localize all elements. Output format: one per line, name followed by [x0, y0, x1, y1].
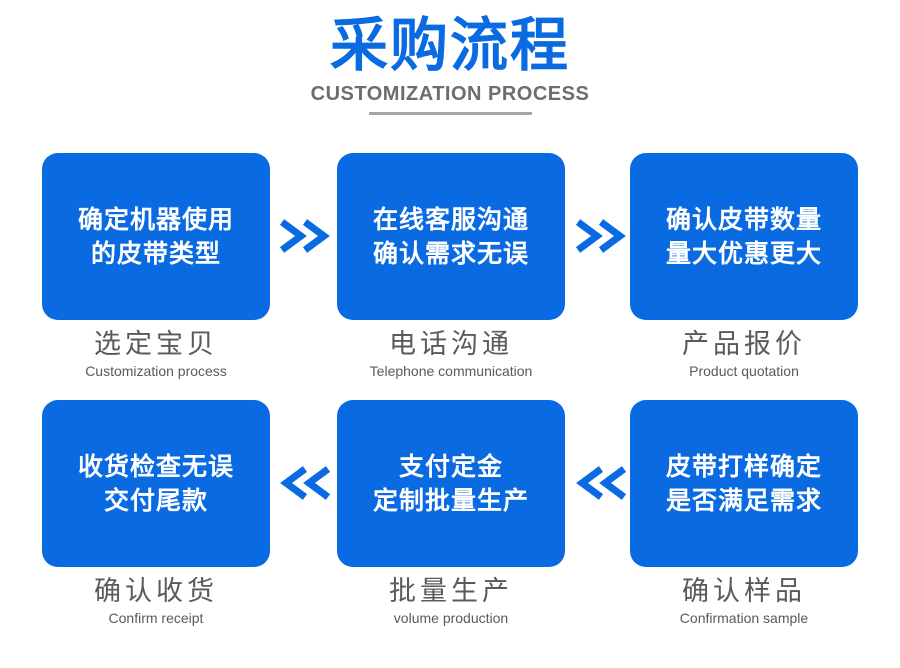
step-5-box-line-1: 支付定金 [399, 450, 503, 484]
step-6-box-line-2: 是否满足需求 [666, 484, 822, 518]
step-4-box-line-2: 交付尾款 [104, 484, 208, 518]
chevron-double-left-icon [573, 462, 629, 504]
step-5-box-line-2: 定制批量生产 [373, 484, 529, 518]
step-3-caption-cn: 产品报价 [630, 328, 858, 361]
chevron-double-right-icon [277, 215, 333, 257]
step-1-box[interactable]: 确定机器使用 的皮带类型 [42, 153, 270, 320]
process-step-2[interactable]: 在线客服沟通 确认需求无误 电话沟通 Telephone communicati… [337, 153, 565, 380]
step-3-caption-en: Product quotation [630, 362, 858, 380]
step-6-caption-en: Confirmation sample [630, 609, 858, 627]
step-2-box[interactable]: 在线客服沟通 确认需求无误 [337, 153, 565, 320]
step-2-caption-en: Telephone communication [337, 362, 565, 380]
step-6-box-line-1: 皮带打样确定 [666, 450, 822, 484]
step-5-caption-en: volume production [337, 609, 565, 627]
step-2-caption-cn: 电话沟通 [337, 328, 565, 361]
step-2-box-line-1: 在线客服沟通 [373, 203, 529, 237]
process-step-4[interactable]: 收货检查无误 交付尾款 确认收货 Confirm receipt [42, 400, 270, 627]
chevron-double-right-icon [573, 215, 629, 257]
step-4-caption-cn: 确认收货 [42, 575, 270, 608]
step-3-box[interactable]: 确认皮带数量 量大优惠更大 [630, 153, 858, 320]
process-step-1[interactable]: 确定机器使用 的皮带类型 选定宝贝 Customization process [42, 153, 270, 380]
step-4-caption-en: Confirm receipt [42, 609, 270, 627]
step-1-caption-en: Customization process [42, 362, 270, 380]
process-step-6[interactable]: 皮带打样确定 是否满足需求 确认样品 Confirmation sample [630, 400, 858, 627]
process-flow: 确定机器使用 的皮带类型 选定宝贝 Customization process … [0, 0, 900, 668]
step-4-box-line-1: 收货检查无误 [78, 450, 234, 484]
chevron-double-left-icon [277, 462, 333, 504]
process-step-5[interactable]: 支付定金 定制批量生产 批量生产 volume production [337, 400, 565, 627]
step-5-caption-cn: 批量生产 [337, 575, 565, 608]
step-3-box-line-1: 确认皮带数量 [666, 203, 822, 237]
step-1-box-line-1: 确定机器使用 [78, 203, 234, 237]
purchase-process-infographic: 采购流程 CUSTOMIZATION PROCESS 确定机器使用 的皮带类型 … [0, 0, 900, 668]
step-6-caption-cn: 确认样品 [630, 575, 858, 608]
process-step-3[interactable]: 确认皮带数量 量大优惠更大 产品报价 Product quotation [630, 153, 858, 380]
step-3-box-line-2: 量大优惠更大 [666, 237, 822, 271]
step-5-box[interactable]: 支付定金 定制批量生产 [337, 400, 565, 567]
step-4-box[interactable]: 收货检查无误 交付尾款 [42, 400, 270, 567]
step-2-box-line-2: 确认需求无误 [373, 237, 529, 271]
step-6-box[interactable]: 皮带打样确定 是否满足需求 [630, 400, 858, 567]
step-1-box-line-2: 的皮带类型 [91, 237, 221, 271]
step-1-caption-cn: 选定宝贝 [42, 328, 270, 361]
